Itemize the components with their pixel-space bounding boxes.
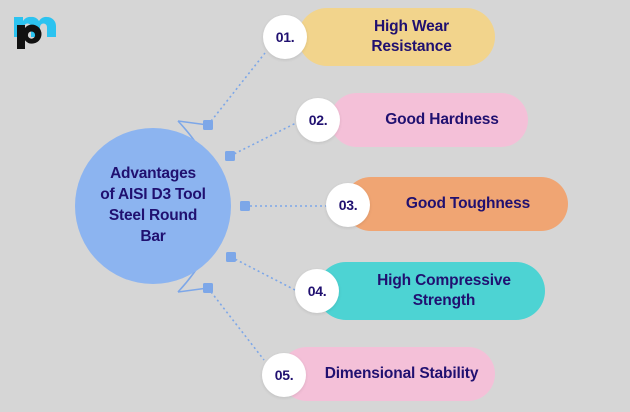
item-number-04: 04. [308, 283, 327, 299]
item-label-02: Good Hardness [359, 110, 498, 130]
item-badge-05[interactable]: 05. [262, 353, 306, 397]
connector-stub-01 [178, 121, 208, 125]
item-number-02: 02. [309, 112, 328, 128]
pm-logo [10, 8, 62, 54]
item-pill-05[interactable]: Dimensional Stability [280, 347, 495, 401]
item-label-03: Good Toughness [382, 194, 530, 214]
connector-stub-05 [178, 288, 208, 292]
item-pill-04[interactable]: High Compressive Strength [317, 262, 545, 320]
connector-node-01 [203, 120, 213, 130]
hub-title: Advantages of AISI D3 Tool Steel Round B… [88, 164, 218, 248]
connector-node-02 [225, 151, 235, 161]
logo-p-mark [17, 25, 41, 49]
item-badge-01[interactable]: 01. [263, 15, 307, 59]
connector-node-03 [240, 201, 250, 211]
connector-line-04 [231, 257, 297, 291]
item-badge-03[interactable]: 03. [326, 183, 370, 227]
item-pill-03[interactable]: Good Toughness [344, 177, 568, 231]
center-hub: Advantages of AISI D3 Tool Steel Round B… [75, 128, 231, 284]
connector-node-05 [203, 283, 213, 293]
item-label-01: High Wear Resistance [341, 17, 451, 57]
item-pill-02[interactable]: Good Hardness [330, 93, 528, 147]
item-pill-01[interactable]: High Wear Resistance [298, 8, 495, 66]
item-number-05: 05. [275, 367, 294, 383]
item-label-05: Dimensional Stability [297, 364, 479, 384]
item-badge-04[interactable]: 04. [295, 269, 339, 313]
connector-line-01 [208, 53, 265, 125]
connector-line-05 [208, 288, 264, 360]
item-number-03: 03. [339, 197, 358, 213]
item-label-04: High Compressive Strength [351, 271, 511, 311]
infographic-canvas: Advantages of AISI D3 Tool Steel Round B… [0, 0, 630, 412]
item-badge-02[interactable]: 02. [296, 98, 340, 142]
connector-line-02 [230, 122, 298, 156]
item-number-01: 01. [276, 29, 295, 45]
connector-node-04 [226, 252, 236, 262]
